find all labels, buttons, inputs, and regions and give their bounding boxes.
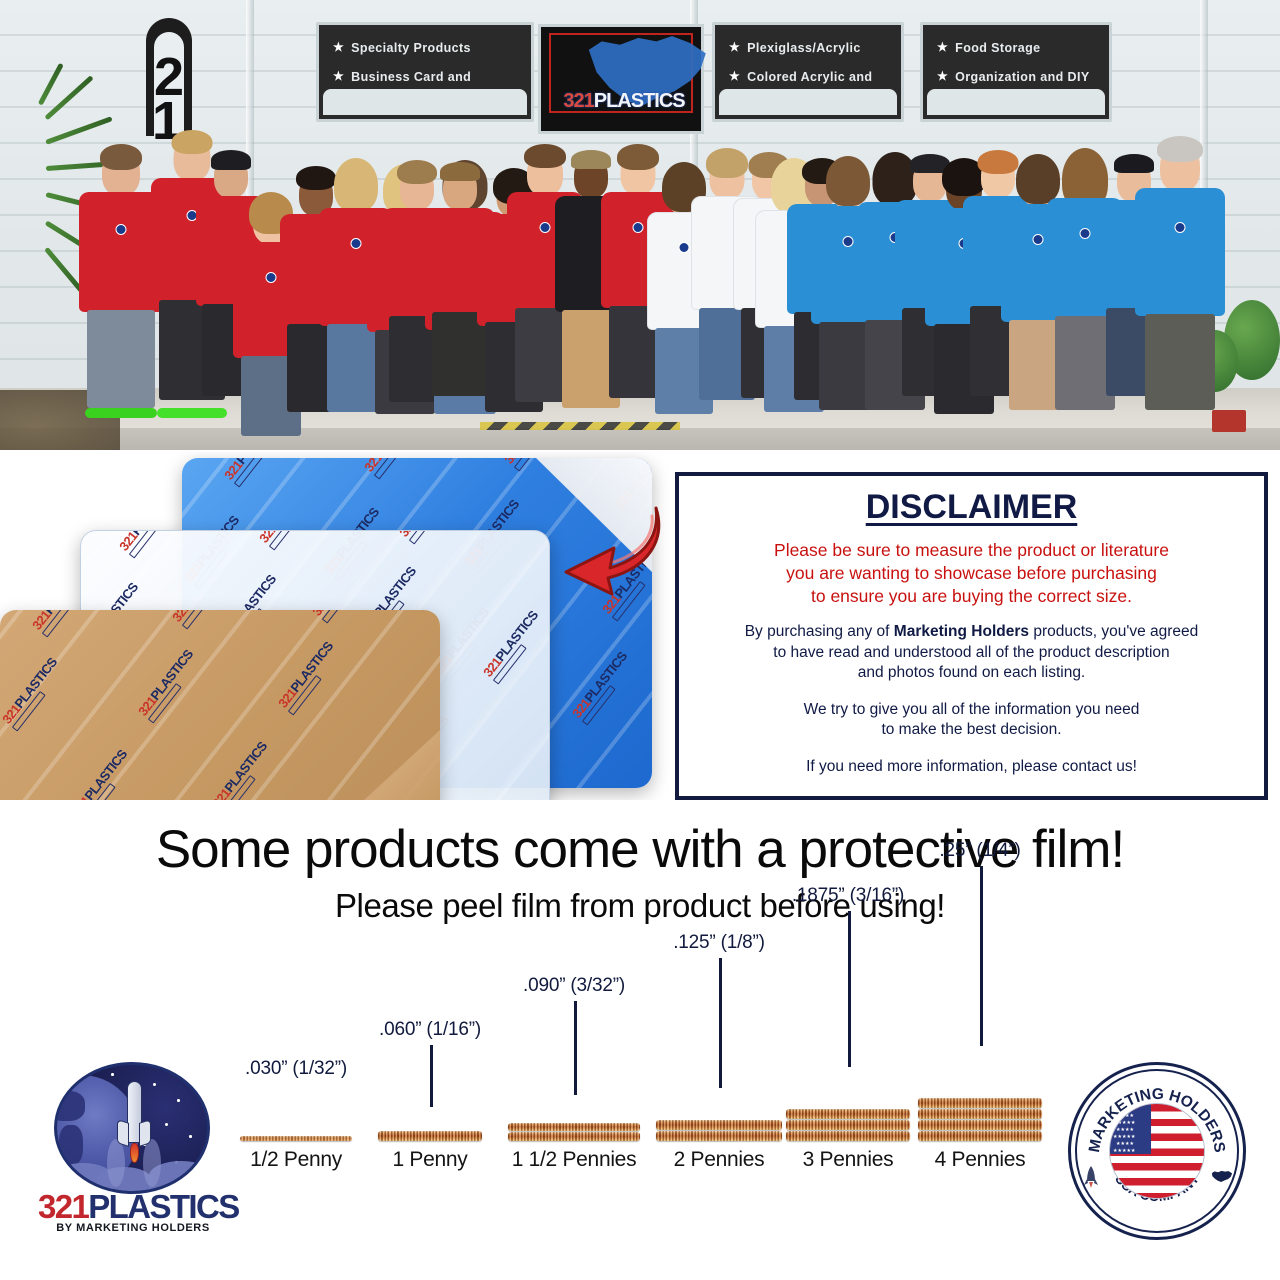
sign-lower-band	[927, 89, 1105, 115]
warning-line-1: you are wanting to showcase before purch…	[693, 562, 1250, 585]
disclaimer-box: DISCLAIMER Please be sure to measure the…	[675, 472, 1268, 800]
kraft-paper-sheet: 321PLASTICS 321PLASTICS 321PLASTICS 321P…	[0, 610, 440, 800]
sign-lower-band	[323, 89, 527, 115]
sign-right-item-0: Food Storage	[955, 39, 1040, 58]
film-texture	[0, 610, 440, 800]
star-icon: ★	[333, 39, 344, 58]
chart-column-5: .25” (1/4”) 4 Pennies	[918, 1098, 1042, 1172]
coin-stack-5	[918, 1098, 1042, 1141]
sign-left: ★ Specialty Products ★ Business Card and…	[316, 22, 534, 122]
coin-stack-4	[786, 1109, 910, 1141]
star-icon: ★	[937, 39, 948, 58]
coin-stack-3	[656, 1120, 782, 1141]
paragraph-3-line-0: We try to give you all of the informatio…	[693, 700, 1250, 720]
leader-line-3	[719, 958, 722, 1088]
disclaimer-title: DISCLAIMER	[693, 488, 1250, 527]
us-flag-icon: ★★★★★ ★★★★ ★★★★★ ★★★★ ★★★★★ ★★★★ ★★★★★	[1109, 1103, 1205, 1199]
logo-brand-text: 321PLASTICS	[38, 1190, 228, 1223]
warning-line-2: to ensure you are buying the correct siz…	[693, 585, 1250, 608]
callout-label-0: .030” (1/32”)	[245, 1058, 347, 1080]
disclaimer-paragraph-3: We try to give you all of the informatio…	[693, 700, 1250, 741]
leader-line-2	[574, 1001, 577, 1095]
logo-brand-suffix: PLASTICS	[88, 1188, 238, 1225]
person	[1134, 126, 1226, 450]
sign-right: ★ Food Storage ★ Organization and DIY Ma…	[920, 22, 1112, 122]
team-photo: 2 1 ★ Specialty Products ★ Business Card…	[0, 0, 1280, 450]
flag-canton: ★★★★★ ★★★★ ★★★★★ ★★★★ ★★★★★ ★★★★ ★★★★★	[1110, 1104, 1151, 1154]
headline-block: Some products come with a protective fil…	[0, 822, 1280, 925]
leader-line-4	[848, 911, 851, 1067]
chart-column-3: .125” (1/8”) 2 Pennies	[656, 1120, 782, 1172]
sign-left-item-0: Specialty Products	[351, 39, 471, 58]
leader-line-1	[430, 1045, 433, 1107]
callout-label-5: .25” (1/4”)	[939, 840, 1020, 862]
peel-corner-arrow-icon	[556, 496, 666, 606]
category-label-1: 1 Penny	[378, 1148, 482, 1172]
paragraph-2-line-2: and photos found on each listing.	[693, 663, 1250, 683]
chart-column-1: .060” (1/16”) 1 Penny	[378, 1131, 482, 1172]
chart-column-0: .030” (1/32”) 1/2 Penny	[240, 1136, 352, 1172]
small-rocket-icon	[1084, 1166, 1098, 1188]
logo-tagline: BY MARKETING HOLDERS	[38, 1222, 228, 1234]
category-label-2: 1 1/2 Pennies	[508, 1148, 640, 1172]
coin-stack-1	[378, 1131, 482, 1141]
star-icon: ★	[729, 39, 740, 58]
paragraph-2-line-1: to have read and understood all of the p…	[693, 643, 1250, 663]
warning-line-0: Please be sure to measure the product or…	[693, 539, 1250, 562]
paragraph-2-line-0: By purchasing any of Marketing Holders p…	[693, 622, 1250, 642]
sign-center-item-0: Plexiglass/Acrylic	[747, 39, 861, 58]
chart-column-2: .090” (3/32”) 1 1/2 Pennies	[508, 1123, 640, 1172]
callout-label-2: .090” (3/32”)	[523, 975, 625, 997]
callout-label-3: .125” (1/8”)	[673, 932, 765, 954]
headline-secondary: Please peel film from product before usi…	[0, 887, 1280, 925]
sign-center: ★ Plexiglass/Acrylic ★ Colored Acrylic a…	[712, 22, 904, 122]
headline-primary: Some products come with a protective fil…	[0, 822, 1280, 878]
category-label-0: 1/2 Penny	[240, 1148, 352, 1172]
rocket-icon	[117, 1081, 151, 1167]
marketing-holders-badge: MARKETING HOLDERS USA COMPANY ★★★★★ ★★★★…	[1068, 1062, 1246, 1240]
sign-middle-poster: 321PLASTICS	[538, 24, 704, 134]
coin-stack-0	[240, 1136, 352, 1141]
321-plastics-logo: 321PLASTICS BY MARKETING HOLDERS	[38, 1062, 228, 1250]
paragraph-3-line-1: to make the best decision.	[693, 720, 1250, 740]
chart-column-4: .1875” (3/16”) 3 Pennies	[786, 1109, 910, 1172]
sign-lower-band	[719, 89, 897, 115]
disclaimer-warning: Please be sure to measure the product or…	[693, 539, 1250, 607]
leader-line-5	[980, 866, 983, 1046]
brand-name: Marketing Holders	[894, 623, 1029, 640]
logo-globe	[54, 1062, 210, 1194]
protective-film-product-image: 321PLASTICS 321PLASTICS 321PLASTICS 321P…	[0, 452, 670, 800]
poster-brand: 321PLASTICS	[549, 90, 699, 113]
category-label-5: 4 Pennies	[918, 1148, 1042, 1172]
coin-stack-2	[508, 1123, 640, 1141]
callout-label-4: .1875” (3/16”)	[792, 885, 904, 907]
promotional-infographic-page: 2 1 ★ Specialty Products ★ Business Card…	[0, 0, 1280, 1280]
disclaimer-paragraph-2: By purchasing any of Marketing Holders p…	[693, 622, 1250, 683]
category-label-4: 3 Pennies	[786, 1148, 910, 1172]
poster-brand-suffix: PLASTICS	[594, 90, 685, 112]
poster-brand-prefix: 321	[563, 90, 593, 112]
globe-ring-icon	[54, 1062, 210, 1194]
disclaimer-paragraph-4: If you need more information, please con…	[693, 757, 1250, 777]
category-label-3: 2 Pennies	[656, 1148, 782, 1172]
logo-brand-prefix: 321	[38, 1188, 88, 1225]
callout-label-1: .060” (1/16”)	[379, 1019, 481, 1041]
